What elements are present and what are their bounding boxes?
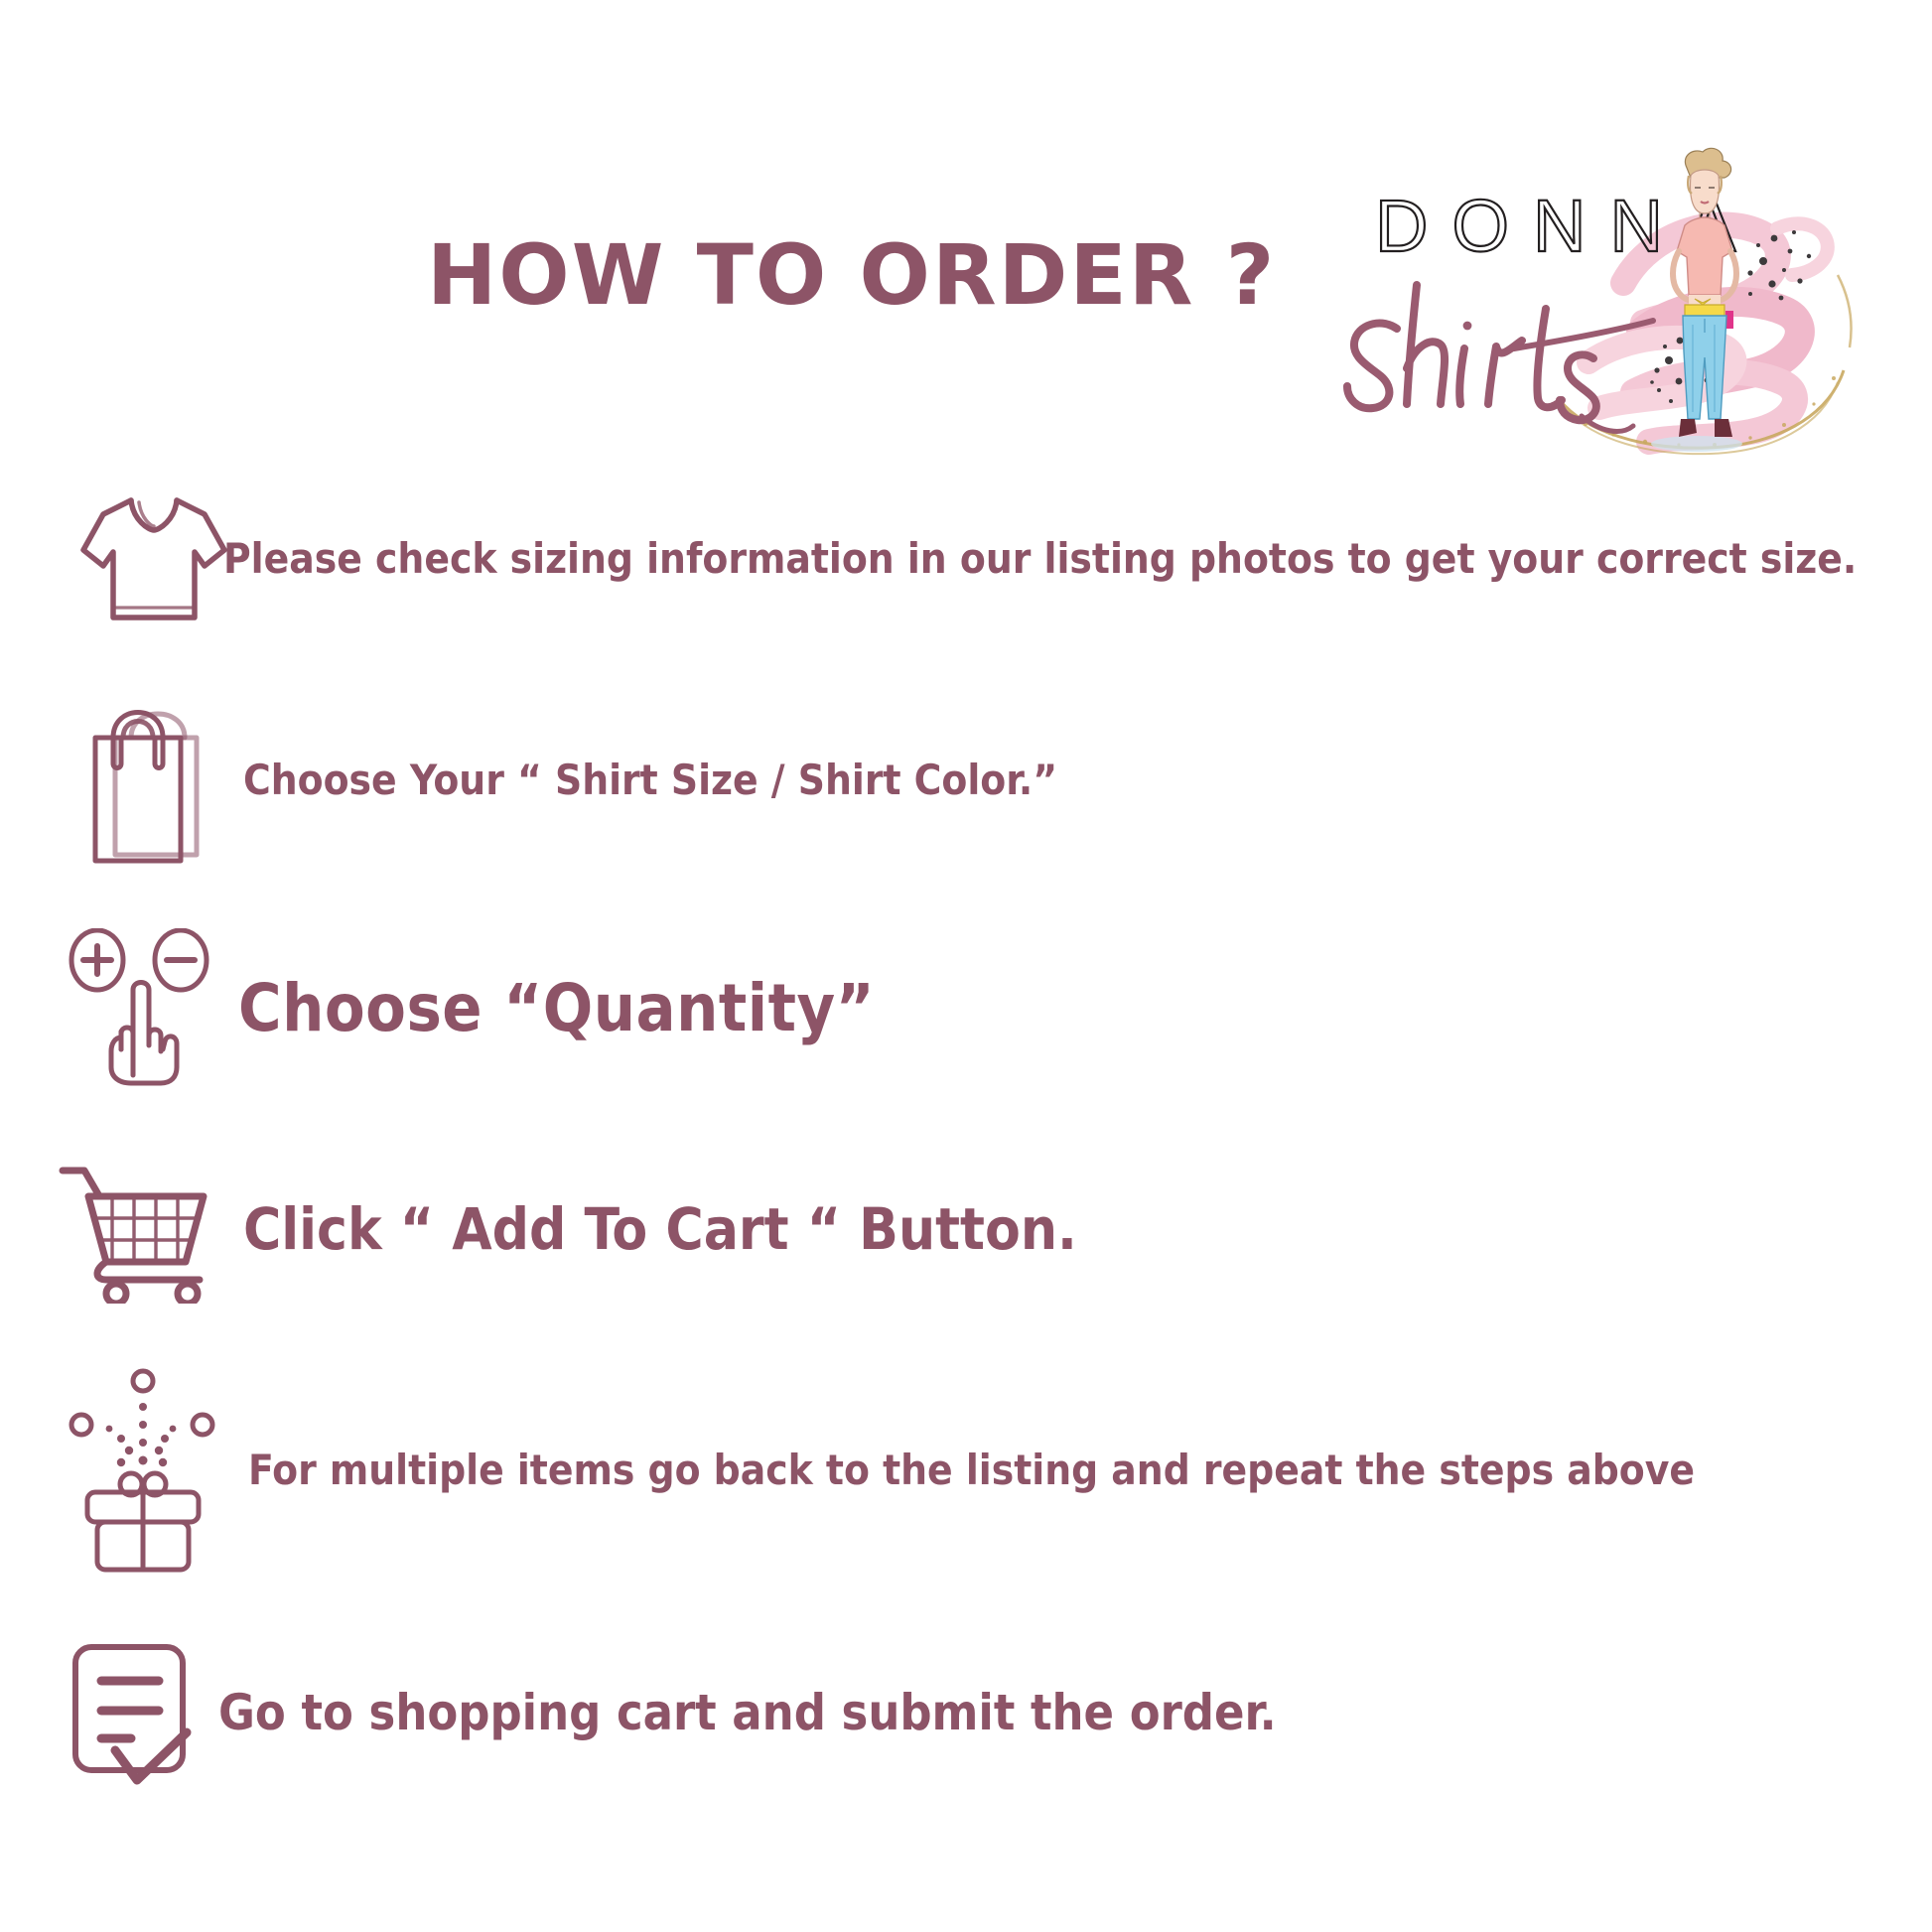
steps-list: Please check sizing information in our l… bbox=[0, 452, 1932, 1822]
gift-box-icon bbox=[35, 1363, 263, 1577]
step-text-check-sizing: Please check sizing information in our l… bbox=[223, 534, 1932, 583]
shopping-bag-icon bbox=[40, 690, 268, 869]
page-header: HOW TO ORDER ? bbox=[0, 0, 1932, 467]
step-repeat-for-multiple: For multiple items go back to the listin… bbox=[0, 1335, 1932, 1603]
step-choose-quantity: Choose “Quantity” bbox=[0, 894, 1932, 1122]
step-check-sizing: Please check sizing information in our l… bbox=[0, 452, 1932, 665]
shopping-cart-icon bbox=[30, 1155, 258, 1304]
page-title: HOW TO ORDER ? bbox=[427, 226, 1276, 324]
step-submit-order: Go to shopping cart and submit the order… bbox=[0, 1603, 1932, 1822]
how-to-order-page: HOW TO ORDER ? bbox=[0, 0, 1932, 1932]
step-choose-size-color: Choose Your “ Shirt Size / Shirt Color.” bbox=[0, 665, 1932, 894]
brand-logo: DONNA bbox=[1325, 134, 1862, 462]
step-text-choose-size-color: Choose Your “ Shirt Size / Shirt Color.” bbox=[243, 756, 1932, 804]
step-add-to-cart: Click “ Add To Cart “ Button. bbox=[0, 1122, 1932, 1335]
step-text-repeat-for-multiple: For multiple items go back to the listin… bbox=[248, 1446, 1932, 1494]
step-text-submit-order: Go to shopping cart and submit the order… bbox=[218, 1684, 1932, 1741]
step-text-add-to-cart: Click “ Add To Cart “ Button. bbox=[243, 1195, 1932, 1263]
quantity-stepper-hand-icon bbox=[30, 928, 258, 1087]
step-text-choose-quantity: Choose “Quantity” bbox=[238, 970, 1932, 1046]
